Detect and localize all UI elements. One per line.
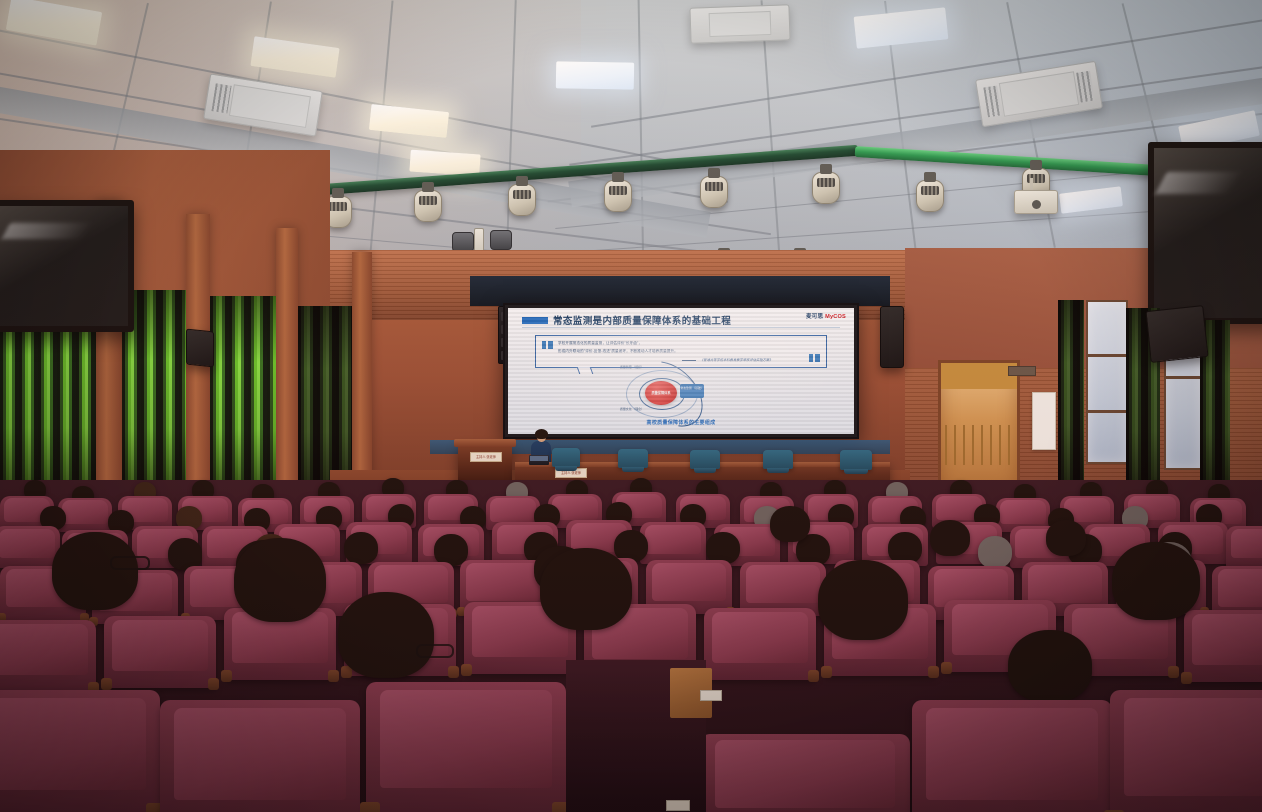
wall-tv-monitor-left <box>0 200 134 332</box>
stage-chair[interactable] <box>763 450 793 469</box>
air-conditioner-unit <box>689 4 790 43</box>
screen-glare <box>2 223 91 239</box>
stage-curtain-left <box>298 306 352 486</box>
auditorium-scene: 常态监测是内部质量保障体系的基础工程 麦可思 MyCOS 学校开展常态化的质量监… <box>0 0 1262 812</box>
lectern-name-card: 主持人 张老师 <box>470 452 502 462</box>
stage-par-light <box>700 176 728 208</box>
presenter-laptop[interactable] <box>529 455 549 465</box>
slide-quote-line-2: 形成内外联动的"评价-反馈-改进"质量闭环，不断推动人才培养质量提升。 <box>558 349 678 354</box>
audience-head <box>234 538 326 622</box>
slide-quote-box: 学校开展常态化的质量监测，让评估评价"长牙齿"， 形成内外联动的"评价-反馈-改… <box>535 335 827 368</box>
slide-diagram-caption: 高校质量保障体系的主要组成 <box>508 419 854 426</box>
stage-header-band <box>470 276 890 306</box>
seat-number-plate <box>666 800 690 811</box>
audience-seat[interactable] <box>1110 690 1262 812</box>
audience-seat[interactable] <box>700 734 910 812</box>
screen-glare <box>1155 172 1241 194</box>
audience-seat[interactable] <box>1184 610 1262 682</box>
slide-title: 常态监测是内部质量保障体系的基础工程 <box>553 313 731 327</box>
ceiling-panel-light <box>556 61 634 89</box>
slide-title-rule <box>522 327 840 328</box>
wall-socket-panel <box>1008 366 1036 376</box>
audience-head <box>978 536 1012 568</box>
stage-par-light <box>508 184 536 216</box>
audience-seat[interactable] <box>104 616 216 688</box>
doorway-far-wall <box>941 363 1017 389</box>
audience-head <box>770 506 810 542</box>
audience-seat[interactable] <box>0 620 96 692</box>
diagram-core-circle: 质量保障体系 <box>645 381 677 405</box>
wall-tv-monitor-right <box>1148 142 1262 324</box>
audience-seat[interactable] <box>0 690 160 812</box>
lectern-top <box>454 439 516 447</box>
audience-head <box>52 532 138 610</box>
audience-head <box>338 592 434 678</box>
stage-par-light <box>916 180 944 212</box>
laptop-screen <box>530 456 548 461</box>
source-dash <box>682 360 696 361</box>
logo-chinese: 麦可思 <box>806 314 823 320</box>
audience-head <box>1008 630 1092 702</box>
wall-speaker-stage-right <box>880 306 904 368</box>
lectern-podium: 主持人 张老师 <box>458 444 512 480</box>
slide-quote-line-1: 学校开展常态化的质量监测，让评估评价"长牙齿"， <box>558 341 642 346</box>
slide-quote-source: 《普通高等学校本科教育教学审核评估实施方案》 <box>700 357 773 362</box>
stage-par-light <box>812 172 840 204</box>
slide-title-accent-bar <box>522 317 548 324</box>
quote-mark-close-icon <box>809 354 820 362</box>
diagram-callout-label: 常态监测 （基础） <box>680 387 704 391</box>
audience-seat[interactable] <box>704 608 816 680</box>
window-curtain-right <box>1058 300 1084 480</box>
eyeglasses-icon <box>110 556 150 570</box>
stage-chair[interactable] <box>840 450 872 470</box>
audience-seat[interactable] <box>160 700 360 812</box>
diagram-core-label: 质量保障体系 <box>645 390 677 395</box>
audience-head <box>344 532 378 564</box>
wall-poster <box>1032 392 1056 450</box>
audience-seat[interactable] <box>366 682 566 812</box>
wall-pillar <box>352 252 372 492</box>
wall-pillar <box>276 228 298 498</box>
presenter-hair <box>535 429 548 439</box>
diagram-callout-box: 常态监测 （基础） <box>680 384 704 398</box>
audience-head <box>1112 542 1200 620</box>
diagram-node-top-label: 质量管理 （组织） <box>608 366 656 370</box>
audience-head <box>818 560 908 640</box>
stage-chair[interactable] <box>552 448 580 467</box>
balcony-railing <box>945 425 1013 465</box>
ceiling-projector <box>1014 190 1058 214</box>
stage-par-light <box>604 180 632 212</box>
moving-head-light <box>490 230 512 250</box>
audience-head <box>930 520 970 556</box>
audience-seat[interactable] <box>640 522 706 564</box>
audience-head <box>1046 520 1086 556</box>
wall-speaker-left <box>186 329 214 368</box>
quote-box-tail <box>577 367 594 374</box>
audience-seat[interactable] <box>0 526 60 568</box>
lectern-name-text: 主持人 张老师 <box>471 454 501 459</box>
stage-chair[interactable] <box>618 449 648 468</box>
hall-window <box>1086 300 1128 464</box>
audience-seat[interactable] <box>912 700 1112 812</box>
logo-english: MyCOS <box>825 314 846 320</box>
exit-doorway[interactable] <box>938 360 1020 494</box>
seat-number-plate <box>700 690 722 701</box>
stage-curtain-left <box>210 296 276 486</box>
projection-screen: 常态监测是内部质量保障体系的基础工程 麦可思 MyCOS 学校开展常态化的质量监… <box>503 303 859 439</box>
eyeglasses-icon <box>416 644 454 658</box>
stage-par-light <box>414 190 442 222</box>
mycos-logo: 麦可思 MyCOS <box>806 312 846 320</box>
moving-head-light <box>452 232 474 252</box>
wall-speaker-right[interactable] <box>1145 305 1208 363</box>
presentation-slide: 常态监测是内部质量保障体系的基础工程 麦可思 MyCOS 学校开展常态化的质量监… <box>508 308 854 434</box>
stage-chair[interactable] <box>690 450 720 469</box>
diagram-node-bottom-label: 质量文化 （理念） <box>608 408 656 412</box>
audience-head <box>540 548 632 630</box>
quote-mark-open-icon <box>542 341 553 349</box>
audience-seat[interactable] <box>1226 526 1262 568</box>
audience-seat[interactable] <box>58 498 112 532</box>
